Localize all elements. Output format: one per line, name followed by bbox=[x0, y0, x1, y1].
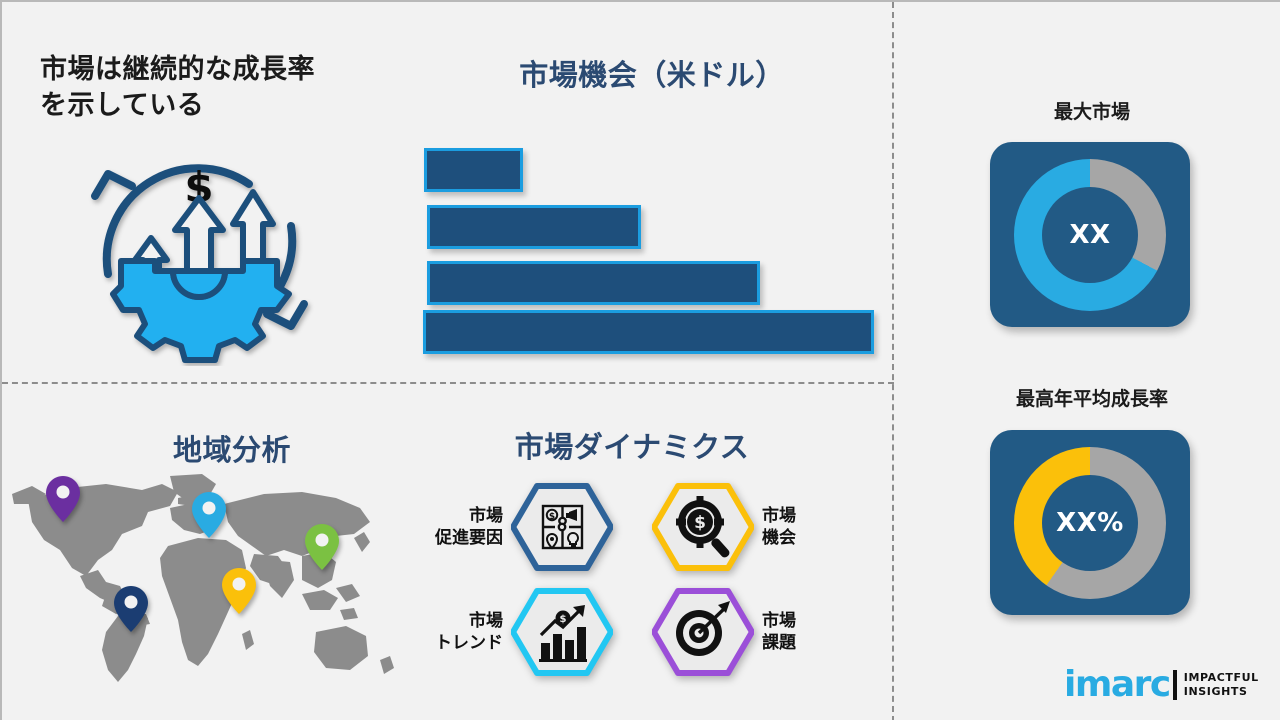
dynamics-label-challenges: 市場 課題 bbox=[762, 610, 858, 655]
puzzle-pieces-icon: $ bbox=[511, 482, 613, 572]
highest-cagr-card: XX% bbox=[990, 430, 1190, 615]
highest-cagr-hole: XX% bbox=[1042, 475, 1138, 571]
largest-market-hole: XX bbox=[1042, 187, 1138, 283]
imarc-tagline: IMPACTFUL INSIGHTS bbox=[1184, 671, 1259, 699]
dynamics-label-trends: 市場 トレンド bbox=[407, 610, 503, 655]
bar-3 bbox=[427, 261, 760, 305]
largest-market-value: XX bbox=[1069, 220, 1110, 250]
highest-cagr-value: XX% bbox=[1056, 508, 1124, 538]
imarc-logo: imarc IMPACTFUL INSIGHTS bbox=[1064, 662, 1264, 708]
bar-chart-growth-icon: $ bbox=[511, 587, 613, 677]
horizontal-divider bbox=[2, 382, 894, 384]
dynamics-item-challenges[interactable]: 市場 課題 bbox=[652, 587, 858, 677]
opportunity-bar-chart bbox=[420, 148, 880, 353]
dynamics-label-opportunities: 市場 機会 bbox=[762, 505, 858, 550]
bar-1 bbox=[424, 148, 523, 192]
vertical-divider bbox=[892, 2, 894, 720]
svg-text:$: $ bbox=[549, 512, 555, 522]
market-dynamics-grid: 市場 促進要因 $ bbox=[407, 482, 857, 687]
market-dynamics-title: 市場ダイナミクス bbox=[412, 424, 852, 466]
bar-row bbox=[427, 205, 641, 249]
magnifier-dollar-icon: $ bbox=[652, 482, 754, 572]
dynamics-label-drivers: 市場 促進要因 bbox=[407, 505, 503, 550]
logo-divider-bar bbox=[1173, 670, 1177, 700]
target-dart-icon bbox=[652, 587, 754, 677]
bar-2 bbox=[427, 205, 641, 249]
bar-row bbox=[424, 148, 523, 192]
bar-4 bbox=[423, 310, 874, 354]
growth-gear-arrows-icon: $ bbox=[77, 134, 322, 366]
svg-text:$: $ bbox=[560, 614, 567, 625]
world-map bbox=[2, 464, 402, 692]
pin-south-america bbox=[114, 586, 148, 632]
growth-headline: 市場は継続的な成長率 を示している bbox=[40, 52, 390, 123]
largest-market-title: 最大市場 bbox=[957, 97, 1227, 124]
bar-row bbox=[423, 310, 874, 354]
dynamics-item-drivers[interactable]: 市場 促進要因 $ bbox=[407, 482, 613, 572]
dynamics-item-opportunities[interactable]: $ 市場 機会 bbox=[652, 482, 858, 572]
highest-cagr-donut: XX% bbox=[1014, 447, 1166, 599]
pin-north-america bbox=[46, 476, 80, 522]
pin-europe bbox=[192, 492, 226, 538]
largest-market-card: XX bbox=[990, 142, 1190, 327]
opportunity-title: 市場機会（米ドル） bbox=[422, 52, 882, 94]
highest-cagr-title: 最高年平均成長率 bbox=[957, 384, 1227, 411]
svg-text:$: $ bbox=[694, 513, 706, 533]
imarc-wordmark: imarc bbox=[1064, 667, 1170, 703]
regional-analysis-title: 地域分析 bbox=[62, 427, 402, 469]
infographic-slide: 市場は継続的な成長率 を示している $ bbox=[0, 0, 1280, 720]
largest-market-donut: XX bbox=[1014, 159, 1166, 311]
pin-east-asia bbox=[305, 524, 339, 570]
dynamics-item-trends[interactable]: 市場 トレンド $ bbox=[407, 587, 613, 677]
pin-middle-east bbox=[222, 568, 256, 614]
bar-row bbox=[427, 261, 760, 305]
